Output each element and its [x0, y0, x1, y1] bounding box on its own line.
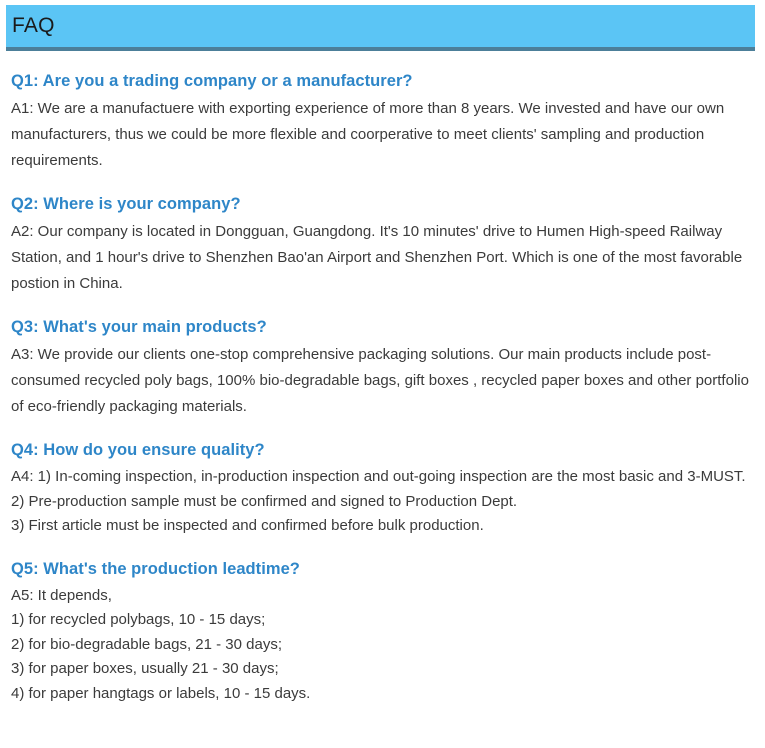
faq-page: FAQ Q1: Are you a trading company or a m… [0, 0, 765, 748]
faq-answer-5-line-1: A5: It depends, [11, 584, 753, 609]
faq-answer-5-line-2: 1) for recycled polybags, 10 - 15 days; [11, 608, 753, 633]
faq-question-2: Q2: Where is your company? [11, 186, 753, 216]
faq-answer-5-line-4: 3) for paper boxes, usually 21 - 30 days… [11, 657, 753, 682]
faq-answer-5-line-3: 2) for bio-degradable bags, 21 - 30 days… [11, 633, 753, 658]
faq-item-2: Q2: Where is your company? A2: Our compa… [11, 186, 753, 297]
faq-question-3: Q3: What's your main products? [11, 309, 753, 339]
faq-answer-4-line-2: 2) Pre-production sample must be confirm… [11, 490, 753, 515]
faq-answer-5-line-5: 4) for paper hangtags or labels, 10 - 15… [11, 682, 753, 707]
faq-answer-5: A5: It depends, 1) for recycled polybags… [11, 584, 753, 707]
faq-answer-3: A3: We provide our clients one-stop comp… [11, 342, 753, 420]
faq-header-bar: FAQ [6, 5, 755, 51]
faq-question-5: Q5: What's the production leadtime? [11, 551, 753, 581]
faq-list: Q1: Are you a trading company or a manuf… [11, 63, 753, 706]
faq-item-3: Q3: What's your main products? A3: We pr… [11, 309, 753, 420]
faq-item-1: Q1: Are you a trading company or a manuf… [11, 63, 753, 174]
faq-answer-4-line-1: A4: 1) In-coming inspection, in-producti… [11, 465, 753, 490]
faq-item-5: Q5: What's the production leadtime? A5: … [11, 551, 753, 707]
faq-answer-2: A2: Our company is located in Dongguan, … [11, 219, 753, 297]
faq-answer-4: A4: 1) In-coming inspection, in-producti… [11, 465, 753, 539]
faq-answer-4-line-3: 3) First article must be inspected and c… [11, 514, 753, 539]
faq-item-4: Q4: How do you ensure quality? A4: 1) In… [11, 432, 753, 539]
faq-question-4: Q4: How do you ensure quality? [11, 432, 753, 462]
faq-answer-1: A1: We are a manufactuere with exporting… [11, 96, 753, 174]
faq-question-1: Q1: Are you a trading company or a manuf… [11, 63, 753, 93]
page-title: FAQ [12, 12, 55, 40]
